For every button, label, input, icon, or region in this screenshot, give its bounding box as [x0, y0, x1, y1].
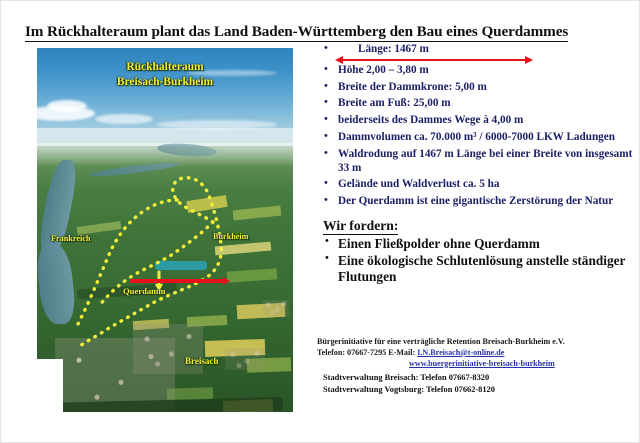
- contact-website-row: www.buergerinitiative-breisach-burkheim: [409, 359, 637, 370]
- contact-website-link[interactable]: www.buergerinitiative-breisach-burkheim: [409, 359, 555, 368]
- facts-list: Länge: 1467 m Höhe 2,00 – 3,80 m Breite …: [321, 43, 637, 209]
- photo-label-burkheim: Burkheim: [213, 232, 249, 241]
- arrow-shaft: [341, 59, 527, 61]
- poster-slide: Im Rückhalteraum plant das Land Baden-Wü…: [0, 0, 640, 443]
- fact-item-laenge: Länge: 1467 m: [321, 43, 637, 57]
- contact-email-link[interactable]: I.N.Breisach@t-online.de: [417, 348, 504, 357]
- photo-caption-line1: Rückhalteraum: [126, 61, 203, 73]
- aerial-photo-image: Rückhalteraum Breisach-Burkheim Frankrei…: [37, 48, 293, 412]
- fact-item-wege: beiderseits des Dammes Wege à 4,00 m: [321, 114, 637, 128]
- authority-breisach: Stadtverwaltung Breisach: Telefon 07667-…: [323, 372, 640, 384]
- facts-column: Länge: 1467 m Höhe 2,00 – 3,80 m Breite …: [321, 43, 637, 286]
- demands-heading: Wir fordern:: [323, 218, 637, 234]
- photo-label-breisach: Breisach: [185, 356, 218, 366]
- contact-phone-row: Telefon: 07667-7295 E-Mail: I.N.Breisach…: [317, 348, 637, 359]
- fact-item-zerstoerung: Der Querdamm ist eine gigantische Zerstö…: [321, 195, 637, 209]
- demands-heading-text: Wir fordern:: [323, 218, 398, 235]
- demands-list: Einen Fließpolder ohne Querdamm Eine öko…: [321, 236, 637, 285]
- photo-caption-line2: Breisach-Burkheim: [117, 76, 213, 88]
- demand-item-fliesspolder: Einen Fließpolder ohne Querdamm: [321, 236, 637, 252]
- fact-item-hoehe: Höhe 2,00 – 3,80 m: [321, 64, 637, 78]
- fact-item-waldverlust: Gelände und Waldverlust ca. 5 ha: [321, 178, 637, 192]
- contact-block: Bürgerinitiative für eine verträgliche R…: [317, 337, 637, 370]
- aerial-photo: Rückhalteraum Breisach-Burkheim Frankrei…: [37, 48, 293, 412]
- photo-label-frankreich: Frankreich: [51, 234, 90, 243]
- authorities-block: Stadtverwaltung Breisach: Telefon 07667-…: [323, 372, 640, 396]
- photo-corner-cutout: [37, 359, 63, 412]
- contact-org: Bürgerinitiative für eine verträgliche R…: [317, 337, 637, 348]
- fact-item-waldrodung: Waldrodung auf 1467 m Länge bei einer Br…: [321, 148, 637, 175]
- fact-item-dammvolumen: Dammvolumen ca. 70.000 m³ / 6000-7000 LK…: [321, 131, 637, 145]
- page-title-text: Im Rückhalteraum plant das Land Baden-Wü…: [25, 23, 568, 42]
- page-title: Im Rückhalteraum plant das Land Baden-Wü…: [25, 23, 621, 40]
- photo-label-querdamm: Querdamm: [123, 286, 166, 296]
- fact-item-dammkrone: Breite der Dammkrone: 5,00 m: [321, 81, 637, 95]
- contact-phone-label: Telefon: 07667-7295 E-Mail:: [317, 348, 415, 357]
- fact-item-laenge-label: Länge: 1467 m: [358, 43, 429, 57]
- fact-item-breite-fuss: Breite am Fuß: 25,00 m: [321, 97, 637, 111]
- querdamm-marker: [130, 279, 225, 283]
- demand-item-schlutenloesung: Eine ökologische Schlutenlösung anstelle…: [321, 253, 637, 285]
- authority-vogtsburg: Stadtverwaltung Vogtsburg: Telefon 07662…: [323, 384, 640, 396]
- photo-caption: Rückhalteraum Breisach-Burkheim: [117, 60, 213, 90]
- polder-outline-icon: [37, 48, 293, 412]
